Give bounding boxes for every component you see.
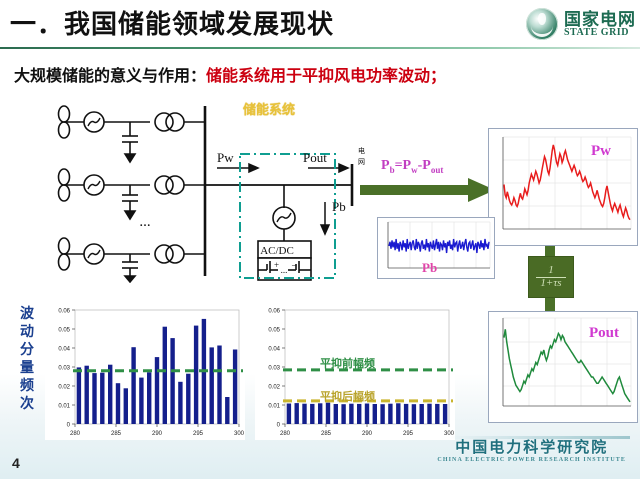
annotation-before-smoothing: 平抑前幅频: [320, 355, 375, 371]
page-title: 一．我国储能领域发展现状: [10, 4, 334, 41]
svg-text:295: 295: [403, 431, 414, 437]
chart-pout-label: Pout: [589, 325, 619, 342]
svg-text:0.06: 0.06: [268, 309, 280, 315]
svg-text:网: 网: [358, 158, 365, 166]
subtitle: 大规模储能的意义与作用：储能系统用于平抑风电功率波动；: [14, 62, 446, 86]
state-grid-name-en: STATE GRID: [564, 28, 636, 38]
svg-text:...: ...: [139, 214, 150, 230]
power-system-schematic: Pw Pout Pb AC/DC + – ... ... 电 网: [12, 98, 372, 283]
state-grid-emblem-icon: [526, 8, 558, 40]
svg-text:0.05: 0.05: [268, 328, 280, 334]
state-grid-wordmark: 国家电网 STATE GRID: [564, 11, 636, 38]
cepri-name-cn: 中国电力科学研究院: [437, 440, 626, 457]
svg-text:0.01: 0.01: [268, 404, 280, 410]
svg-text:0.03: 0.03: [268, 366, 280, 372]
svg-text:Pout: Pout: [303, 150, 327, 165]
chart-spectrum-before-canvas: 00.010.020.030.040.050.06280285290295300: [45, 300, 245, 440]
state-grid-logo: 国家电网 STATE GRID: [526, 6, 636, 42]
annotation-after-smoothing: 平抑后幅频: [320, 388, 375, 404]
cepri-logo: 中国电力科学研究院 CHINA ELECTRIC POWER RESEARCH …: [437, 440, 626, 463]
svg-text:0.06: 0.06: [58, 309, 70, 315]
slide-root: 一．我国储能领域发展现状 国家电网 STATE GRID 大规模储能的意义与作用…: [0, 0, 640, 479]
chart-pw-canvas: [489, 129, 637, 245]
slide-header: 一．我国储能领域发展现状 国家电网 STATE GRID: [0, 0, 640, 48]
flow-arrow-right-icon: [360, 178, 495, 202]
svg-text:300: 300: [234, 431, 245, 437]
svg-text:285: 285: [321, 431, 332, 437]
fluctuation-axis-label: 波动分量频次: [14, 305, 40, 412]
svg-text:0.01: 0.01: [58, 404, 70, 410]
svg-text:...: ...: [281, 265, 288, 275]
chart-pw: Pw: [488, 128, 638, 246]
svg-text:0.02: 0.02: [58, 385, 70, 391]
transfer-function-numerator: 1: [544, 265, 558, 277]
svg-text:+: +: [274, 260, 279, 270]
transfer-function-denominator: 1+τs: [536, 277, 565, 290]
svg-text:290: 290: [362, 431, 373, 437]
svg-text:280: 280: [280, 431, 291, 437]
svg-text:–: –: [291, 260, 297, 270]
svg-text:285: 285: [111, 431, 122, 437]
subtitle-black-text: 大规模储能的意义与作用：: [14, 68, 206, 85]
svg-text:295: 295: [193, 431, 204, 437]
formula-rendered: Pb=Pw-Pout: [381, 158, 443, 173]
chart-pout: Pout: [488, 311, 638, 423]
svg-text:0.05: 0.05: [58, 328, 70, 334]
header-divider: [0, 47, 640, 49]
svg-text:0.04: 0.04: [58, 347, 70, 353]
subtitle-red-text: 储能系统用于平抑风电功率波动；: [206, 68, 446, 85]
svg-text:0.03: 0.03: [58, 366, 70, 372]
cepri-name-en: CHINA ELECTRIC POWER RESEARCH INSTITUTE: [437, 457, 626, 464]
transfer-function-fraction: 1 1+τs: [536, 265, 565, 289]
svg-text:0: 0: [277, 423, 281, 429]
state-grid-name-cn: 国家电网: [564, 11, 636, 28]
page-number: 4: [12, 455, 20, 471]
svg-text:280: 280: [70, 431, 81, 437]
svg-text:AC/DC: AC/DC: [260, 245, 294, 257]
svg-text:Pw: Pw: [217, 150, 234, 165]
chart-pb-label: Pb: [422, 260, 437, 276]
svg-text:0: 0: [67, 423, 71, 429]
svg-text:290: 290: [152, 431, 163, 437]
chart-pb: Pb: [377, 217, 495, 279]
svg-text:0.04: 0.04: [268, 347, 280, 353]
low-pass-filter-block: 1 1+τs: [528, 256, 574, 298]
chart-pw-label: Pw: [591, 143, 611, 160]
svg-text:电: 电: [358, 146, 365, 155]
svg-text:0.02: 0.02: [268, 385, 280, 391]
svg-text:Pb: Pb: [332, 199, 346, 214]
power-balance-formula: Pb=Pw-Pout Pb=Pw-Pout: [381, 158, 443, 175]
chart-spectrum-before: 00.010.020.030.040.050.06280285290295300: [45, 300, 245, 440]
